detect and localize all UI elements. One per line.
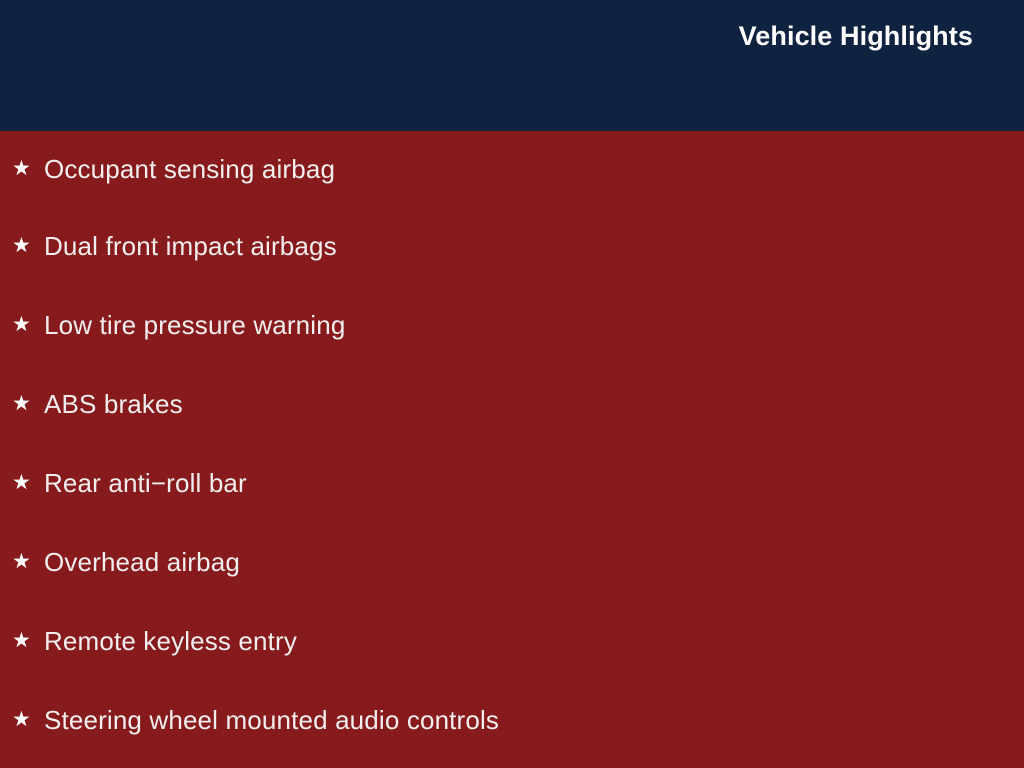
list-item: ★Occupant sensing airbag [0,131,1024,207]
slide-body: ★Occupant sensing airbag★Dual front impa… [0,131,1024,768]
feature-label: Low tire pressure warning [44,311,345,340]
feature-label: Steering wheel mounted audio controls [44,706,499,735]
star-bullet-icon: ★ [12,551,44,572]
star-bullet-icon: ★ [12,314,44,335]
star-bullet-icon: ★ [12,709,44,730]
list-item: ★ABS brakes [0,365,1024,444]
slide-header: Vehicle Highlights [0,0,1024,131]
list-item: ★Overhead airbag [0,523,1024,602]
feature-label: Overhead airbag [44,548,240,577]
feature-label: Rear anti−roll bar [44,469,247,498]
list-item: ★Dual front impact airbags [0,207,1024,286]
feature-label: Occupant sensing airbag [44,155,335,184]
star-bullet-icon: ★ [12,158,44,179]
star-bullet-icon: ★ [12,235,44,256]
feature-label: Remote keyless entry [44,627,297,656]
list-item: ★Steering wheel mounted audio controls [0,681,1024,760]
star-bullet-icon: ★ [12,393,44,414]
feature-label: Dual front impact airbags [44,232,337,261]
list-item: ★Low tire pressure warning [0,286,1024,365]
list-item: ★Remote keyless entry [0,602,1024,681]
page-title: Vehicle Highlights [739,23,973,50]
star-bullet-icon: ★ [12,630,44,651]
slide-root: Vehicle Highlights ★Occupant sensing air… [0,0,1024,768]
star-bullet-icon: ★ [12,472,44,493]
vehicle-highlights-list: ★Occupant sensing airbag★Dual front impa… [0,131,1024,760]
list-item: ★Rear anti−roll bar [0,444,1024,523]
feature-label: ABS brakes [44,390,183,419]
